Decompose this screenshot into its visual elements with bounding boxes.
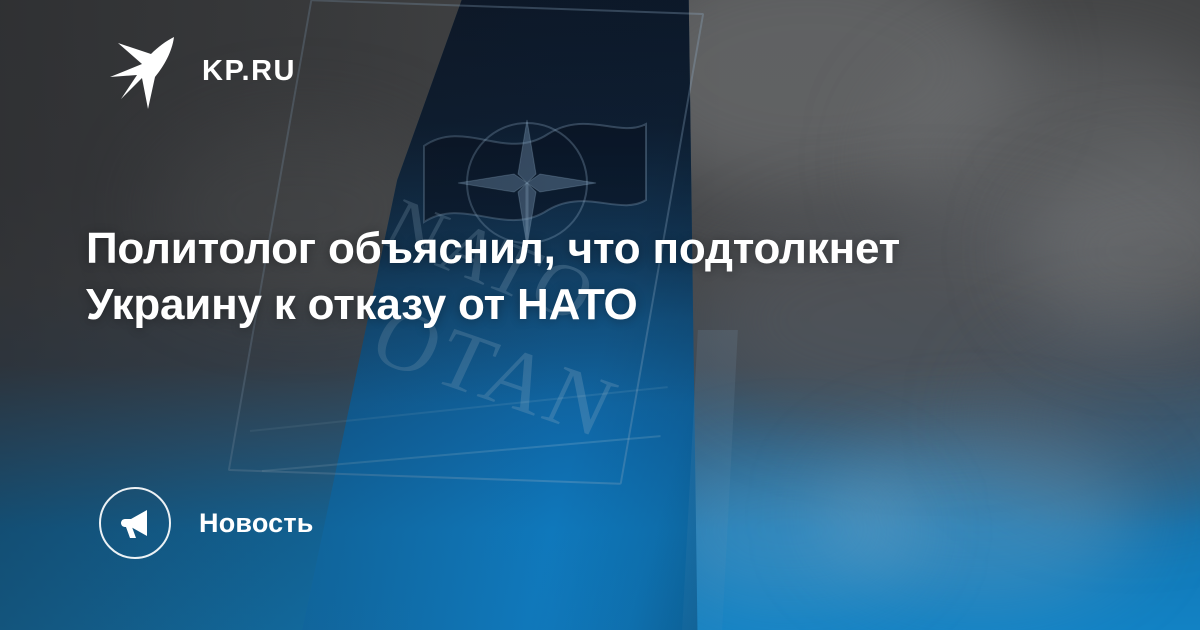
brand-logo[interactable]: KP.RU [108,33,296,109]
page-title: Политолог объяснил, что подтолкнет Украи… [86,221,966,333]
swallow-bird-icon [108,33,180,109]
share-card: NATO OTAN KP.RU Политолог объяснил, что … [0,0,1200,630]
megaphone-icon [99,487,171,559]
status-badge-label: Новость [199,508,314,539]
status-badge[interactable]: Новость [99,487,314,559]
brand-name-label: KP.RU [202,55,296,88]
